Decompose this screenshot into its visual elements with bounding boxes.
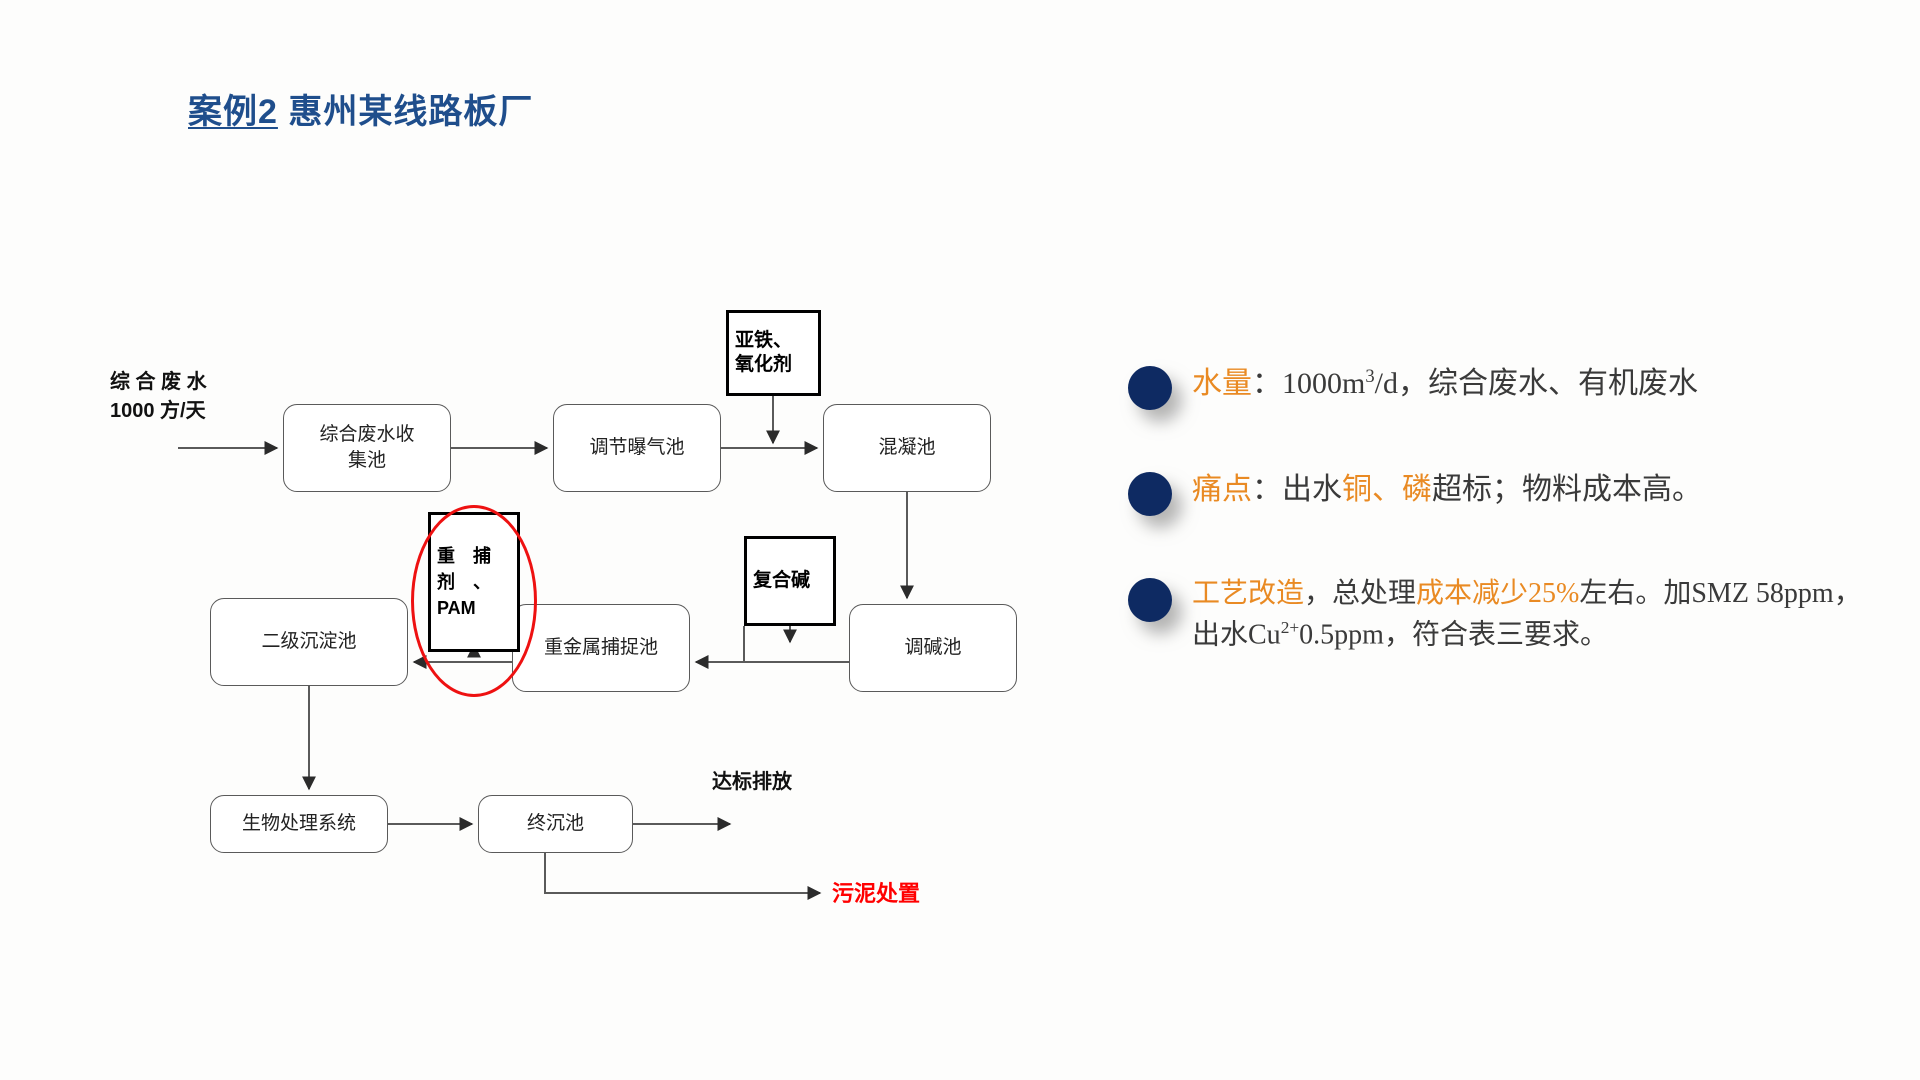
bullet-text-segment: 铜、磷 bbox=[1342, 473, 1432, 506]
node-regulating-aeration-tank[interactable]: 调节曝气池 bbox=[553, 404, 721, 492]
bullet-text-segment: ：出水 bbox=[1252, 473, 1342, 506]
reagent-compound-alkali[interactable]: 复合碱 bbox=[744, 536, 836, 626]
node-secondary-sedimentation-tank[interactable]: 二级沉淀池 bbox=[210, 598, 408, 686]
label-standard-discharge: 达标排放 bbox=[712, 768, 792, 797]
flow-connectors bbox=[0, 0, 1100, 1080]
process-flow-diagram: 综 合 废 水 1000 方/天 综合废水收 集池 调节曝气池 混凝池 调碱池 … bbox=[0, 0, 1100, 1080]
bullet-text-segment: 痛点 bbox=[1192, 473, 1252, 506]
node-heavy-metal-capture-tank[interactable]: 重金属捕捉池 bbox=[512, 604, 690, 692]
bullet-item-process-upgrade: 工艺改造，总处理成本减少25%左右。加SMZ 58ppm，出水Cu2+0.5pp… bbox=[1128, 572, 1888, 656]
bullet-text-segment: 工艺改造 bbox=[1192, 578, 1304, 609]
bullet-text-segment: 成本减少25% bbox=[1416, 578, 1579, 609]
bullet-text-segment: 3 bbox=[1365, 366, 1374, 387]
bullet-text-pain-point: 痛点：出水铜、磷超标；物料成本高。 bbox=[1192, 466, 1888, 512]
bullet-dot-icon bbox=[1128, 472, 1172, 516]
reagent-ferrous-oxidant[interactable]: 亚铁、 氧化剂 bbox=[726, 310, 821, 396]
bullet-text-segment: ，总处理 bbox=[1304, 578, 1416, 609]
bullet-dot-wrap bbox=[1128, 466, 1192, 516]
node-alkali-adjustment-tank[interactable]: 调碱池 bbox=[849, 604, 1017, 692]
summary-bullet-list: 水量：1000m3/d，综合废水、有机废水 痛点：出水铜、磷超标；物料成本高。 … bbox=[1128, 360, 1888, 712]
reagent-heavy-metal-capturer-pam[interactable]: 重 捕 剂 、 PAM bbox=[428, 512, 520, 652]
bullet-item-water-volume: 水量：1000m3/d，综合废水、有机废水 bbox=[1128, 360, 1888, 410]
bullet-text-water-volume: 水量：1000m3/d，综合废水、有机废水 bbox=[1192, 360, 1888, 406]
bullet-text-segment: 0.5ppm，符合表三要求。 bbox=[1299, 619, 1608, 650]
label-sludge-disposal: 污泥处置 bbox=[832, 876, 920, 908]
bullet-dot-wrap bbox=[1128, 572, 1192, 622]
bullet-item-pain-point: 痛点：出水铜、磷超标；物料成本高。 bbox=[1128, 466, 1888, 516]
slide-canvas: 案例2 惠州某线路板厂 bbox=[0, 0, 1920, 1080]
node-biological-treatment-system[interactable]: 生物处理系统 bbox=[210, 795, 388, 853]
bullet-dot-icon bbox=[1128, 366, 1172, 410]
bullet-dot-wrap bbox=[1128, 360, 1192, 410]
node-final-sedimentation-tank[interactable]: 终沉池 bbox=[478, 795, 633, 853]
inlet-label: 综 合 废 水 1000 方/天 bbox=[110, 368, 207, 426]
bullet-dot-icon bbox=[1128, 578, 1172, 622]
bullet-text-segment: 2+ bbox=[1281, 618, 1299, 637]
bullet-text-segment: ：1000m bbox=[1252, 367, 1365, 400]
bullet-text-segment: /d，综合废水、有机废水 bbox=[1375, 367, 1698, 400]
bullet-text-process-upgrade: 工艺改造，总处理成本减少25%左右。加SMZ 58ppm，出水Cu2+0.5pp… bbox=[1192, 572, 1888, 656]
node-comprehensive-wastewater-collection-tank[interactable]: 综合废水收 集池 bbox=[283, 404, 451, 492]
bullet-text-segment: 超标；物料成本高。 bbox=[1432, 473, 1702, 506]
bullet-text-segment: 水量 bbox=[1192, 367, 1252, 400]
node-coagulation-tank[interactable]: 混凝池 bbox=[823, 404, 991, 492]
